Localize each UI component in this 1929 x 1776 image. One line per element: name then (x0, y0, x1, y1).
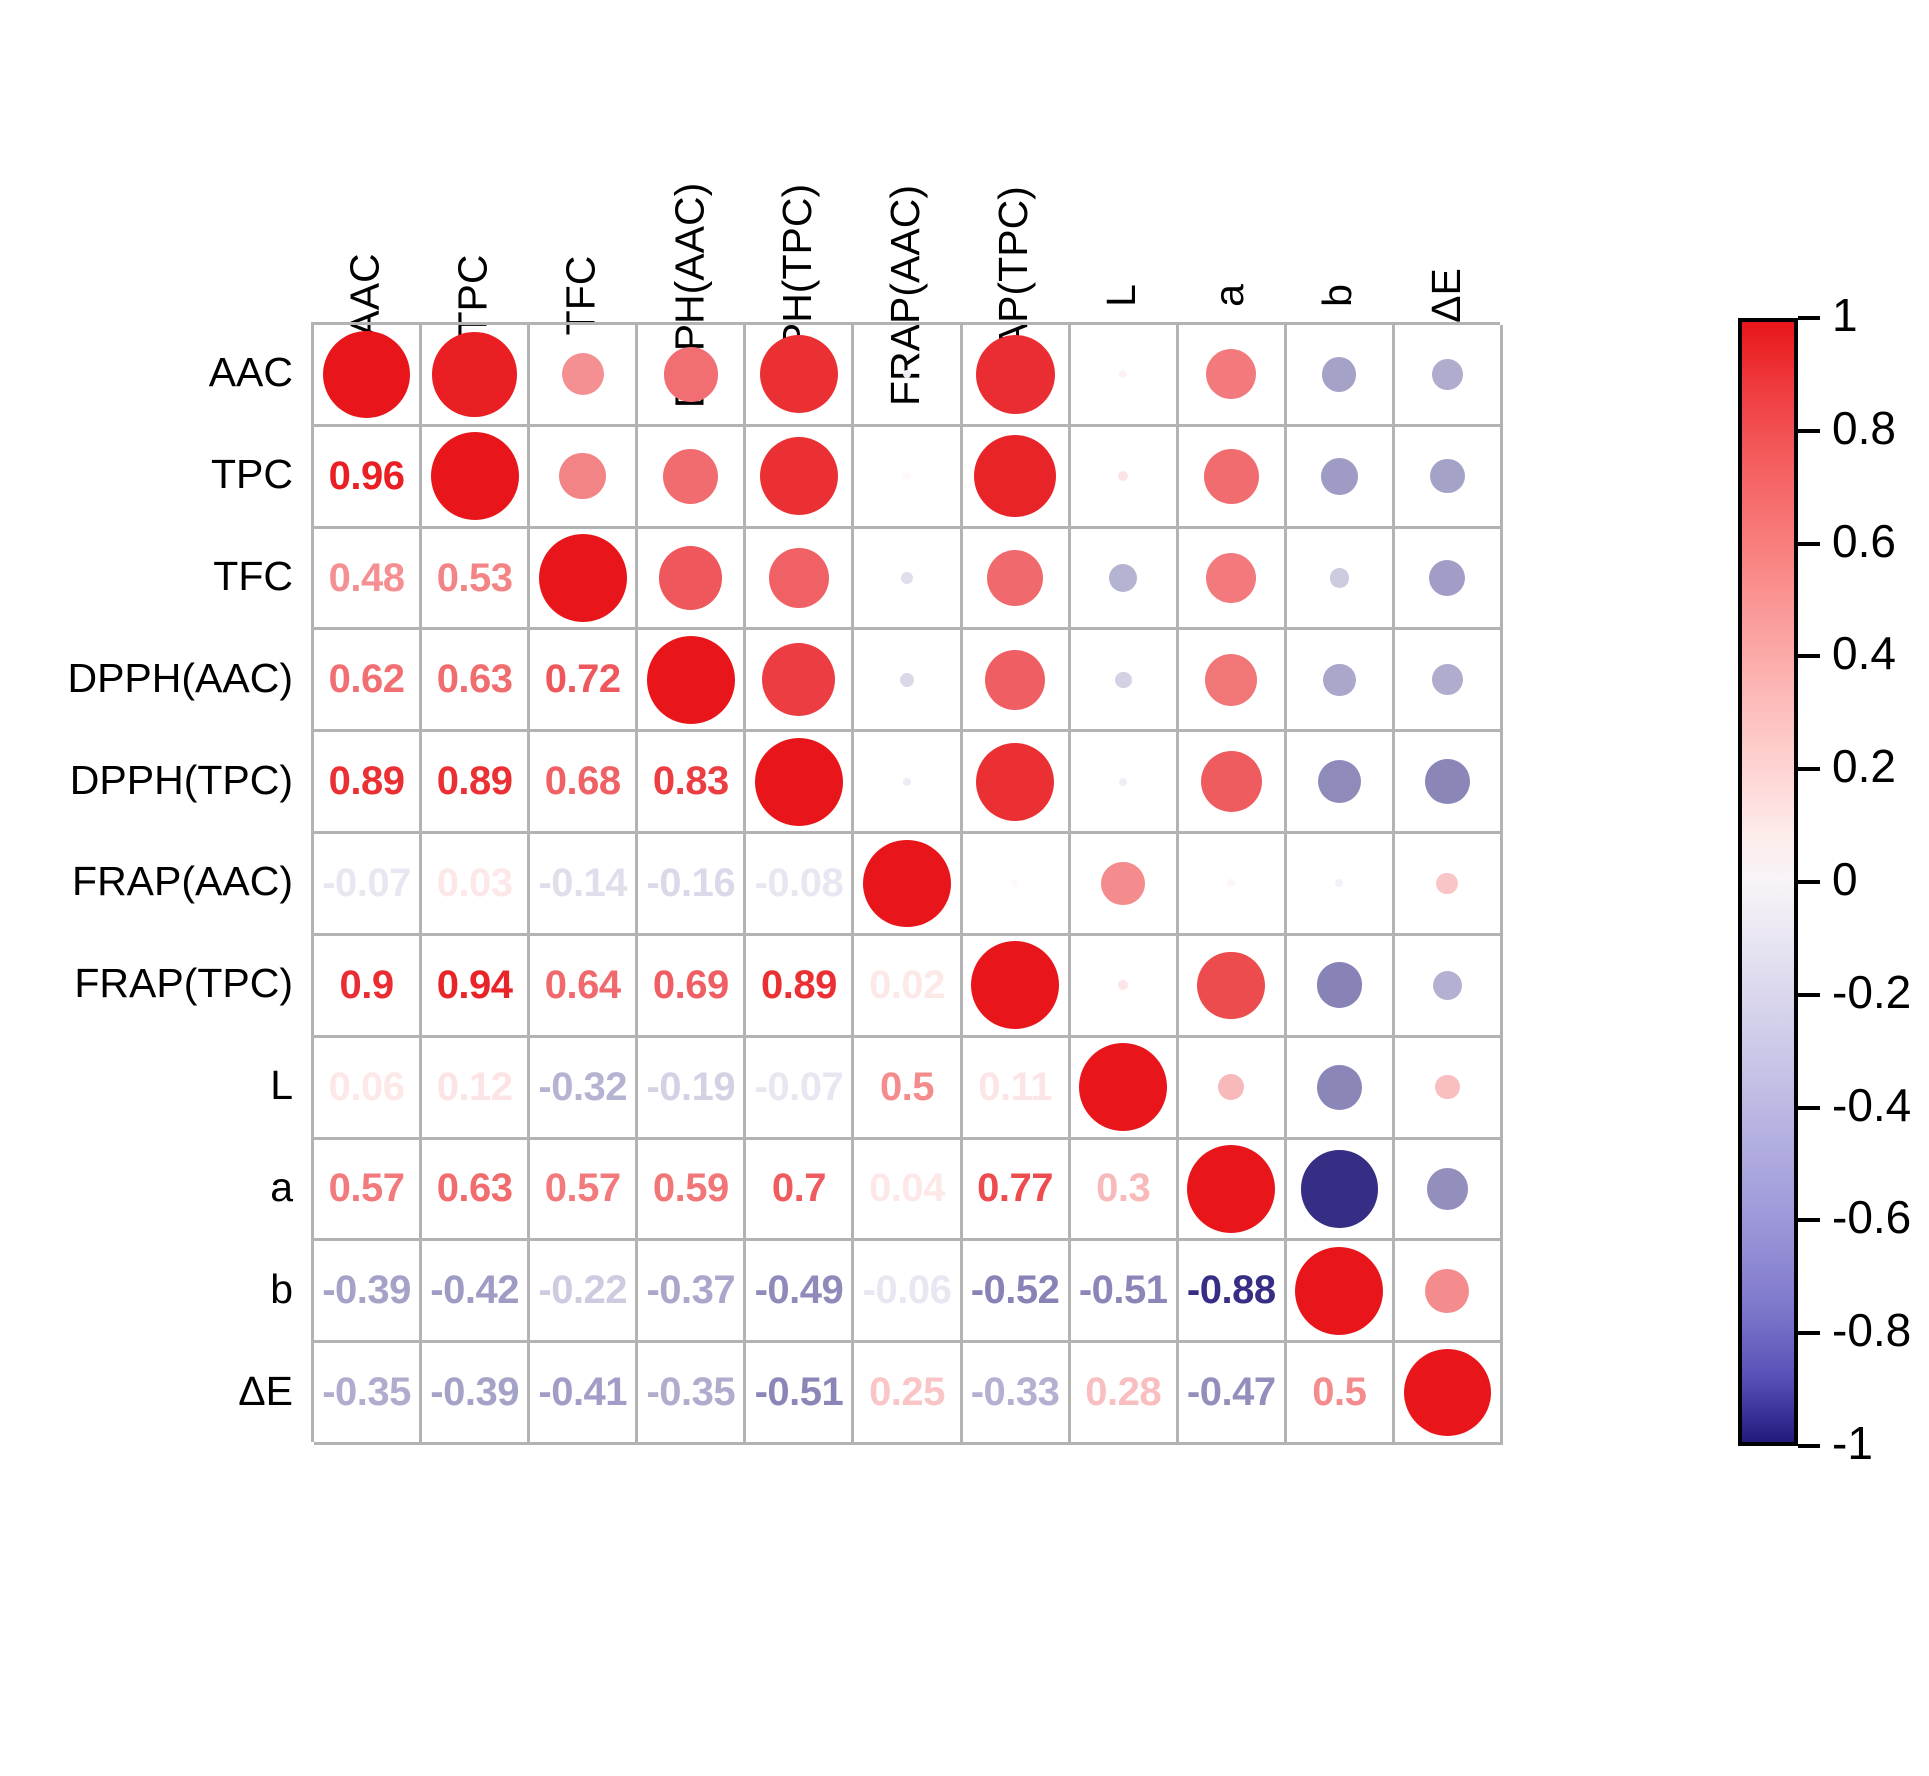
correlation-circle (1227, 879, 1235, 887)
correlation-circle (1218, 1074, 1244, 1100)
matrix-cell (1071, 427, 1179, 529)
correlation-value: -0.88 (1187, 1268, 1276, 1313)
matrix-cell: -0.47 (1179, 1343, 1287, 1445)
correlation-circle (1317, 962, 1363, 1008)
matrix-cell: -0.22 (530, 1241, 638, 1343)
matrix-cell (963, 529, 1071, 631)
correlation-value: 0.25 (869, 1370, 945, 1415)
column-header-b: b (1284, 16, 1392, 316)
correlation-circle (985, 650, 1046, 711)
legend-tick-mark (1798, 316, 1820, 320)
correlation-value: -0.39 (430, 1370, 519, 1415)
matrix-cell (1395, 936, 1503, 1038)
legend-tick-label: -0.8 (1832, 1307, 1911, 1353)
matrix-cell (422, 427, 530, 529)
correlation-circle (1201, 751, 1262, 812)
matrix-cell (1179, 834, 1287, 936)
matrix-cell (1071, 529, 1179, 631)
matrix-cell (1395, 1241, 1503, 1343)
correlation-value: 0.68 (545, 759, 621, 804)
legend-tick-mark (1798, 993, 1820, 997)
correlation-circle (1109, 564, 1137, 592)
row-header-dpphtpc: DPPH(TPC) (70, 729, 293, 831)
correlation-value: 0.3 (1096, 1166, 1150, 1211)
matrix-cell (638, 630, 746, 732)
correlation-circle (1119, 778, 1127, 786)
correlation-value: -0.52 (971, 1268, 1060, 1313)
correlation-value: -0.35 (646, 1370, 735, 1415)
matrix-cell: -0.39 (314, 1241, 422, 1343)
legend-tick-mark (1798, 1444, 1820, 1448)
correlation-circle (769, 548, 829, 608)
column-header-label: b (1317, 284, 1358, 307)
row-header-a: a (270, 1137, 293, 1239)
correlation-circle (659, 546, 722, 609)
matrix-cell: -0.35 (638, 1343, 746, 1445)
legend-tick-label: 0.8 (1832, 405, 1896, 451)
correlation-circle (559, 453, 606, 500)
correlation-value: -0.33 (971, 1370, 1060, 1415)
correlation-value: 0.11 (978, 1065, 1052, 1110)
legend-tick-mark (1798, 1331, 1820, 1335)
column-header-tpc: TPC (419, 16, 527, 316)
matrix-cell (1071, 1038, 1179, 1140)
matrix-cell: 0.69 (638, 936, 746, 1038)
matrix-cell (746, 529, 854, 631)
correlation-circle (1079, 1043, 1167, 1131)
correlation-value: -0.14 (538, 861, 627, 906)
matrix-cell (1179, 325, 1287, 427)
correlation-circle (1322, 357, 1356, 391)
correlation-value: 0.89 (329, 759, 405, 804)
matrix-cell: 0.89 (422, 732, 530, 834)
correlation-circle (1204, 449, 1259, 504)
matrix-cell: 0.53 (422, 529, 530, 631)
matrix-cell: 0.7 (746, 1140, 854, 1242)
matrix-cell (854, 325, 962, 427)
correlation-value: -0.37 (646, 1268, 735, 1313)
row-header-e: ΔE (238, 1340, 293, 1442)
matrix-cell (1395, 834, 1503, 936)
correlation-value: 0.69 (653, 963, 729, 1008)
row-header-frapaac: FRAP(AAC) (72, 831, 293, 933)
matrix-cell: 0.25 (854, 1343, 962, 1445)
correlation-circle (1187, 1145, 1275, 1233)
correlation-circle (900, 673, 914, 687)
correlation-circle (976, 335, 1055, 414)
matrix-cell (1287, 1241, 1395, 1343)
correlation-value: 0.94 (437, 963, 513, 1008)
correlation-circle (1404, 1349, 1492, 1437)
matrix-cell (1179, 1140, 1287, 1242)
correlation-value: -0.47 (1187, 1370, 1276, 1415)
matrix-cell (1287, 529, 1395, 631)
matrix-cell (1395, 1140, 1503, 1242)
matrix-cell (1395, 630, 1503, 732)
correlation-value: -0.49 (755, 1268, 844, 1313)
correlation-value: 0.9 (339, 963, 393, 1008)
correlation-circle (971, 941, 1059, 1029)
matrix-cell: 0.48 (314, 529, 422, 631)
matrix-cell (854, 834, 962, 936)
correlation-circle (1206, 553, 1256, 603)
legend-tick-mark (1798, 880, 1820, 884)
correlation-circle (1119, 370, 1127, 378)
matrix-cell: 0.89 (314, 732, 422, 834)
matrix-cell: -0.07 (314, 834, 422, 936)
correlation-circle (755, 738, 843, 826)
matrix-cell: -0.37 (638, 1241, 746, 1343)
correlation-circle (1301, 1150, 1378, 1227)
row-header-fraptpc: FRAP(TPC) (74, 933, 293, 1035)
matrix-cell (638, 529, 746, 631)
correlation-value: 0.64 (545, 963, 621, 1008)
row-header-tpc: TPC (211, 424, 293, 526)
matrix-cell (1395, 325, 1503, 427)
matrix-cell (1179, 630, 1287, 732)
correlation-value: 0.53 (437, 556, 513, 601)
correlation-circle (863, 840, 951, 928)
matrix-cell: -0.19 (638, 1038, 746, 1140)
matrix-cell (1179, 529, 1287, 631)
correlation-value: 0.89 (761, 963, 837, 1008)
correlation-value: -0.41 (538, 1370, 627, 1415)
matrix-cell: 0.57 (530, 1140, 638, 1242)
matrix-cell: 0.57 (314, 1140, 422, 1242)
matrix-cell: -0.16 (638, 834, 746, 936)
matrix-cell: 0.06 (314, 1038, 422, 1140)
correlation-value: 0.77 (977, 1166, 1053, 1211)
legend-tick-label: -0.4 (1832, 1082, 1911, 1128)
column-header-tfc: TFC (527, 16, 635, 316)
correlation-circle (762, 643, 835, 716)
correlation-circle (663, 449, 718, 504)
correlation-matrix-figure: AACTPCTFCDPPH(AAC)DPPH(TPC)FRAP(AAC)FRAP… (0, 0, 1929, 1776)
matrix-cell: 0.59 (638, 1140, 746, 1242)
correlation-circle (901, 572, 913, 584)
column-header-a: a (1176, 16, 1284, 316)
matrix-cell: 0.3 (1071, 1140, 1179, 1242)
column-header-fraptpc: FRAP(TPC) (960, 16, 1068, 316)
column-header-label: a (1209, 284, 1250, 307)
matrix-cell (1287, 936, 1395, 1038)
row-header-b: b (270, 1238, 293, 1340)
matrix-cell (854, 427, 962, 529)
matrix-cell (1395, 529, 1503, 631)
matrix-cell: -0.88 (1179, 1241, 1287, 1343)
legend-tick-mark (1798, 429, 1820, 433)
correlation-value: 0.96 (329, 454, 405, 499)
matrix-cell (422, 325, 530, 427)
matrix-cell: 0.63 (422, 1140, 530, 1242)
correlation-value: 0.5 (880, 1065, 934, 1110)
correlation-value: -0.19 (646, 1065, 735, 1110)
correlation-circle (1206, 349, 1256, 399)
correlation-circle (987, 550, 1043, 606)
matrix-cell (746, 630, 854, 732)
matrix-cell (963, 325, 1071, 427)
correlation-value: 0.5 (1312, 1370, 1366, 1415)
legend-tick-label: -1 (1832, 1420, 1873, 1466)
row-header-l: L (270, 1035, 293, 1137)
correlation-circle (1425, 759, 1470, 804)
correlation-circle (1118, 471, 1129, 482)
correlation-circle (1330, 568, 1349, 587)
correlation-circle (1335, 879, 1343, 887)
matrix-cell (1395, 1038, 1503, 1140)
matrix-cell (854, 529, 962, 631)
matrix-cell: 0.02 (854, 936, 962, 1038)
correlation-circle (1436, 873, 1458, 895)
correlation-value: -0.16 (646, 861, 735, 906)
matrix-cell (1071, 630, 1179, 732)
legend-tick-label: 0.4 (1832, 630, 1896, 676)
matrix-cell: 0.68 (530, 732, 638, 834)
correlation-value: -0.08 (755, 861, 844, 906)
correlation-circle (1318, 760, 1361, 803)
correlation-circle (1435, 1075, 1460, 1100)
matrix-cell: 0.63 (422, 630, 530, 732)
correlation-circle (1429, 560, 1465, 596)
matrix-cell: 0.5 (1287, 1343, 1395, 1445)
matrix-cell: 0.72 (530, 630, 638, 732)
matrix-cell (1395, 1343, 1503, 1445)
matrix-cell (746, 325, 854, 427)
matrix-cell: -0.33 (963, 1343, 1071, 1445)
matrix-cell (1287, 630, 1395, 732)
color-scale-legend (1738, 318, 1798, 1446)
correlation-circle (1101, 862, 1145, 906)
matrix-cell (1179, 427, 1287, 529)
row-header-aac: AAC (209, 322, 293, 424)
correlation-circle (432, 332, 516, 416)
correlation-value: 0.83 (653, 759, 729, 804)
column-header-label: L (1101, 284, 1142, 307)
correlation-circle (1430, 459, 1464, 493)
correlation-circle (760, 335, 838, 413)
correlation-value: 0.02 (869, 963, 945, 1008)
correlation-circle (903, 778, 911, 786)
correlation-circle (1321, 458, 1358, 495)
correlation-value: 0.59 (653, 1166, 729, 1211)
matrix-cell: -0.14 (530, 834, 638, 936)
row-label-column: AACTPCTFCDPPH(AAC)DPPH(TPC)FRAP(AAC)FRAP… (0, 322, 305, 1442)
correlation-circle (647, 636, 735, 724)
matrix-cell: -0.08 (746, 834, 854, 936)
correlation-value: 0.06 (329, 1065, 405, 1110)
correlation-circle (1432, 664, 1463, 695)
correlation-circle (1425, 1269, 1469, 1313)
matrix-cell (746, 427, 854, 529)
correlation-circle (760, 437, 838, 515)
column-header-dpphtpc: DPPH(TPC) (743, 16, 851, 316)
matrix-cell: 0.83 (638, 732, 746, 834)
column-header-frapaac: FRAP(AAC) (852, 16, 960, 316)
matrix-cell: 0.28 (1071, 1343, 1179, 1445)
correlation-value: -0.07 (755, 1065, 844, 1110)
column-header-l: L (1068, 16, 1176, 316)
matrix-cell: 0.96 (314, 427, 422, 529)
correlation-circle (1197, 952, 1265, 1020)
row-header-dpphaac: DPPH(AAC) (67, 627, 293, 729)
correlation-value: -0.07 (322, 861, 411, 906)
correlation-circle (1433, 971, 1462, 1000)
correlation-value: 0.7 (772, 1166, 826, 1211)
correlation-circle (976, 743, 1054, 821)
matrix-cell (314, 325, 422, 427)
legend-tick-mark (1798, 1106, 1820, 1110)
matrix-cell (963, 936, 1071, 1038)
correlation-value: 0.62 (329, 657, 405, 702)
correlation-circle (1427, 1168, 1468, 1209)
matrix-cell (963, 427, 1071, 529)
correlation-value: -0.06 (863, 1268, 952, 1313)
correlation-circle (323, 331, 411, 419)
row-header-tfc: TFC (213, 526, 293, 628)
correlation-value: 0.28 (1085, 1370, 1161, 1415)
correlation-value: 0.03 (437, 861, 513, 906)
correlation-value: -0.35 (322, 1370, 411, 1415)
matrix-cell (1395, 427, 1503, 529)
matrix-cell (854, 732, 962, 834)
matrix-cell (1071, 325, 1179, 427)
matrix-cell (963, 630, 1071, 732)
matrix-cell (1395, 732, 1503, 834)
correlation-value: -0.39 (322, 1268, 411, 1313)
matrix-cell: -0.35 (314, 1343, 422, 1445)
matrix-cell: 0.04 (854, 1140, 962, 1242)
correlation-value: 0.63 (437, 1166, 513, 1211)
legend-tick-mark (1798, 654, 1820, 658)
column-header-dpphaac: DPPH(AAC) (635, 16, 743, 316)
matrix-cell: -0.39 (422, 1343, 530, 1445)
matrix-cell: 0.5 (854, 1038, 962, 1140)
correlation-grid: 0.960.480.530.620.630.720.890.890.680.83… (311, 322, 1500, 1442)
matrix-cell: -0.51 (746, 1343, 854, 1445)
matrix-cell (1287, 732, 1395, 834)
correlation-circle (664, 347, 718, 401)
matrix-cell (854, 630, 962, 732)
column-header-row: AACTPCTFCDPPH(AAC)DPPH(TPC)FRAP(AAC)FRAP… (311, 0, 1500, 322)
matrix-cell (963, 732, 1071, 834)
correlation-value: 0.63 (437, 657, 513, 702)
matrix-cell (530, 427, 638, 529)
matrix-cell: -0.32 (530, 1038, 638, 1140)
legend-tick-mark (1798, 1218, 1820, 1222)
correlation-circle (1205, 654, 1257, 706)
matrix-cell: -0.51 (1071, 1241, 1179, 1343)
correlation-value: -0.22 (538, 1268, 627, 1313)
correlation-circle (1432, 359, 1463, 390)
correlation-circle (431, 432, 519, 520)
matrix-cell (1179, 732, 1287, 834)
legend-tick-label: 0.2 (1832, 743, 1896, 789)
matrix-cell: 0.89 (746, 936, 854, 1038)
legend-tick-mark (1798, 767, 1820, 771)
matrix-cell: 0.03 (422, 834, 530, 936)
correlation-value: 0.48 (329, 556, 405, 601)
correlation-circle (1317, 1065, 1362, 1110)
matrix-cell (1287, 427, 1395, 529)
legend-tick-label: 1 (1832, 292, 1858, 338)
legend-tick-mark (1798, 542, 1820, 546)
matrix-cell (963, 834, 1071, 936)
correlation-value: 0.04 (869, 1166, 945, 1211)
matrix-cell: 0.11 (963, 1038, 1071, 1140)
matrix-cell: 0.9 (314, 936, 422, 1038)
correlation-circle (539, 534, 627, 622)
column-header-e: ΔE (1392, 16, 1500, 316)
correlation-value: 0.72 (545, 657, 621, 702)
matrix-cell (1287, 325, 1395, 427)
matrix-cell (1179, 936, 1287, 1038)
matrix-cell: 0.62 (314, 630, 422, 732)
matrix-cell (1287, 1038, 1395, 1140)
correlation-circle (1115, 672, 1132, 689)
correlation-value: 0.57 (545, 1166, 621, 1211)
matrix-cell: -0.06 (854, 1241, 962, 1343)
legend-tick-label: 0.6 (1832, 518, 1896, 564)
matrix-cell: 0.64 (530, 936, 638, 1038)
correlation-circle (1295, 1247, 1383, 1335)
correlation-value: -0.32 (538, 1065, 627, 1110)
matrix-cell (1071, 936, 1179, 1038)
correlation-value: 0.57 (329, 1166, 405, 1211)
matrix-cell: 0.12 (422, 1038, 530, 1140)
correlation-circle (562, 353, 604, 395)
matrix-cell (746, 732, 854, 834)
matrix-cell (530, 529, 638, 631)
matrix-cell: -0.49 (746, 1241, 854, 1343)
correlation-value: 0.89 (437, 759, 513, 804)
matrix-cell: -0.07 (746, 1038, 854, 1140)
column-header-aac: AAC (311, 16, 419, 316)
matrix-cell (530, 325, 638, 427)
matrix-cell (1287, 1140, 1395, 1242)
matrix-cell (1287, 834, 1395, 936)
matrix-cell (1071, 834, 1179, 936)
matrix-cell (638, 325, 746, 427)
matrix-cell: 0.77 (963, 1140, 1071, 1242)
matrix-cell (1071, 732, 1179, 834)
legend-tick-label: -0.2 (1832, 969, 1911, 1015)
correlation-value: -0.42 (430, 1268, 519, 1313)
correlation-circle (903, 370, 911, 378)
correlation-circle (1118, 980, 1128, 990)
matrix-cell: -0.42 (422, 1241, 530, 1343)
legend-tick-label: 0 (1832, 856, 1858, 902)
matrix-cell: 0.94 (422, 936, 530, 1038)
correlation-value: 0.12 (437, 1065, 513, 1110)
legend-tick-label: -0.6 (1832, 1194, 1911, 1240)
matrix-cell (1179, 1038, 1287, 1140)
matrix-cell: -0.52 (963, 1241, 1071, 1343)
column-header-label: ΔE (1425, 268, 1466, 323)
correlation-circle (1323, 664, 1355, 696)
correlation-circle (903, 472, 911, 480)
correlation-circle (974, 435, 1057, 518)
correlation-value: -0.51 (755, 1370, 844, 1415)
correlation-circle (1011, 879, 1019, 887)
matrix-cell (638, 427, 746, 529)
correlation-value: -0.51 (1079, 1268, 1168, 1313)
matrix-cell: -0.41 (530, 1343, 638, 1445)
